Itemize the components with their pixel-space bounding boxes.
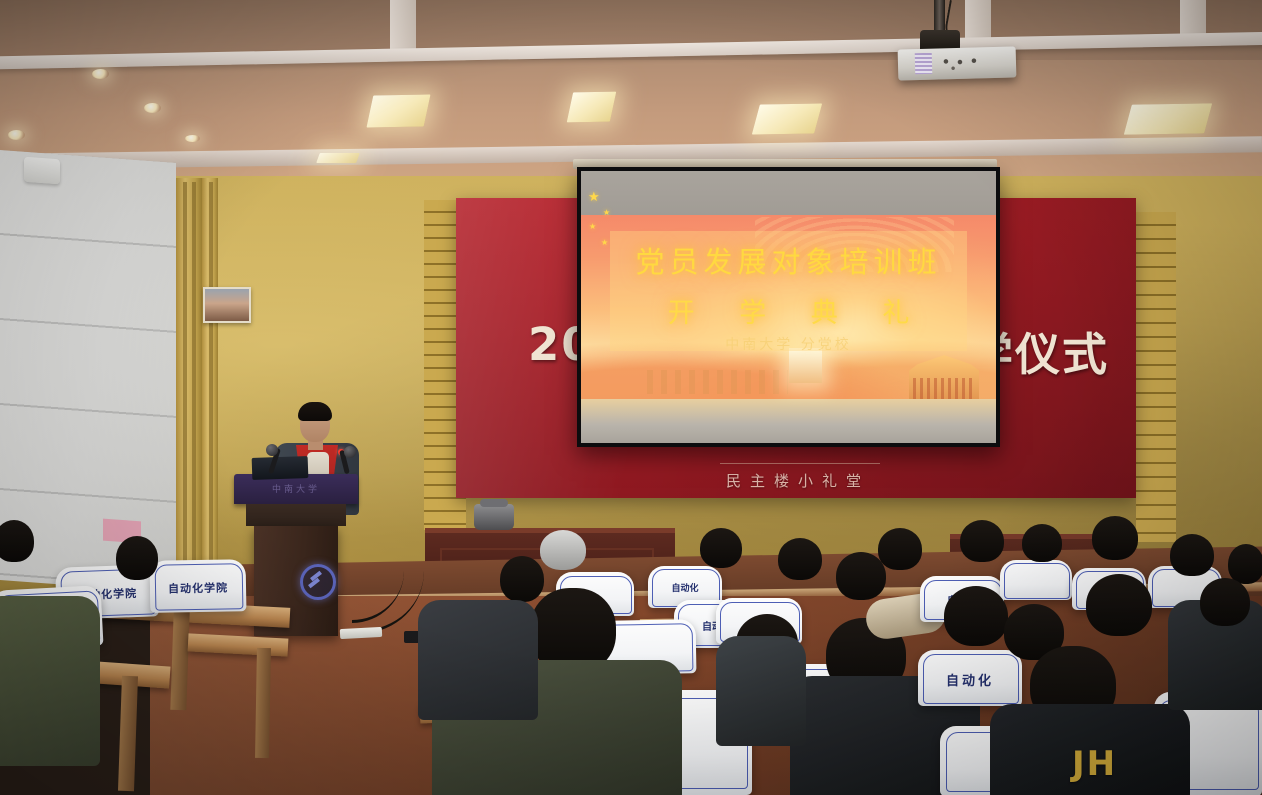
audience-head: [1228, 544, 1262, 584]
banner-venue-label: 民主楼小礼堂: [726, 470, 870, 491]
audience-head: [1092, 516, 1138, 560]
desk-leg: [170, 612, 189, 710]
audience-head-cap: [540, 530, 586, 570]
ceiling-panel-light: [366, 95, 430, 128]
audience-head: [778, 538, 822, 580]
projection-screen: ★ ★ ★ ★ 党员发展对象培训班 开 学 典 礼 中南大学 分党校: [577, 167, 1000, 447]
audience-coat: [716, 636, 806, 746]
speaker-hair: [298, 402, 332, 421]
chair-label: 自动化学院: [150, 579, 246, 597]
ceiling-downlight: [8, 130, 25, 140]
microphone-head: [344, 446, 356, 458]
microphone-head: [266, 444, 278, 456]
slide-subtitle: 开 学 典 礼: [581, 291, 996, 330]
audience-head: [960, 520, 1004, 562]
screen-blank-area: [581, 171, 996, 215]
podium-laptop: [252, 456, 309, 480]
projector-controls: [940, 55, 984, 72]
auditorium-photo: 20 学仪式 民主楼小礼堂 ★ ★ ★ ★ 党员发展对象培训班 开 学 典 礼 …: [0, 0, 1262, 795]
wall-slat-panel: [1136, 212, 1176, 542]
flag-star-icon: ★: [588, 191, 600, 204]
podium-shelf: [246, 504, 346, 526]
slide-great-wall: [647, 370, 788, 394]
audience-head: [116, 536, 158, 580]
desk-leg: [255, 648, 271, 758]
jacket-back-text: JH: [1072, 744, 1117, 784]
chair-cover: 自动化学院: [150, 559, 247, 613]
ceiling-downlight: [92, 69, 109, 79]
projector-vent-icon: [915, 53, 933, 74]
chair-label: 自动化: [918, 670, 1022, 689]
banner-divider: [720, 463, 880, 464]
audience-head: [1086, 574, 1152, 636]
ceiling-downlight: [144, 103, 161, 113]
chair-label: 自动化: [648, 581, 722, 594]
audience-head: [836, 552, 886, 600]
pilaster-groove: [192, 182, 196, 574]
podium-plate-text: 中南大学: [244, 482, 348, 495]
ceiling-beam-vertical: [1180, 0, 1206, 36]
slide-gate-detail: [913, 378, 975, 400]
chair-cover: [1000, 560, 1072, 600]
wall-pilaster: [176, 178, 202, 578]
audience-head: [1200, 578, 1250, 626]
ceiling-downlight: [185, 135, 200, 142]
audience-head: [944, 586, 1008, 646]
desk-leg: [118, 676, 138, 791]
wall-picture-frame: [203, 287, 251, 323]
audience-head: [700, 528, 742, 568]
ceiling-panel-light: [316, 153, 360, 163]
chair-cover: 自动化: [918, 650, 1022, 706]
university-emblem-icon: [300, 564, 336, 600]
audience-head: [1022, 524, 1062, 562]
pilaster-groove: [183, 182, 187, 574]
slide-organization: 中南大学 分党校: [581, 334, 996, 354]
ceiling-panel-light: [567, 92, 617, 123]
ceiling-panel-light: [1124, 103, 1212, 134]
slide-title: 党员发展对象培训班: [581, 239, 996, 281]
audience-head: [1170, 534, 1214, 576]
audience-coat: [0, 596, 100, 766]
kettle-lid: [480, 499, 508, 507]
audience-head: [0, 520, 34, 562]
ceiling-panel-light: [752, 103, 822, 134]
audience-coat: [418, 600, 538, 720]
pilaster-groove: [209, 182, 213, 574]
flag-star-icon: ★: [603, 209, 610, 217]
audience-head: [500, 556, 544, 602]
flag-star-icon: ★: [589, 223, 596, 231]
water-kettle: [474, 504, 514, 530]
wall-mounted-box: [24, 157, 60, 185]
audience-head: [878, 528, 922, 570]
